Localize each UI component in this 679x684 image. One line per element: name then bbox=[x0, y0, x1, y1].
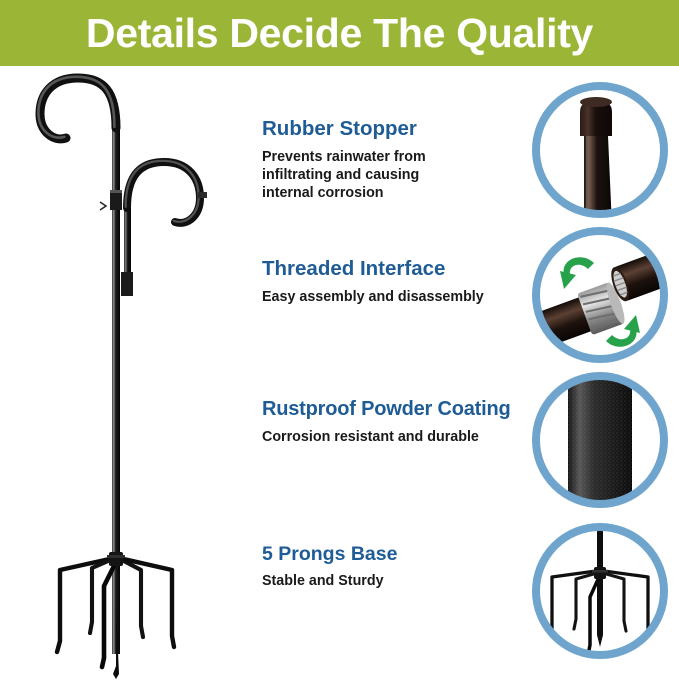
feature-title: Rubber Stopper bbox=[262, 117, 530, 141]
prongs-base-photo bbox=[524, 515, 676, 667]
feature-description: Prevents rainwater from infiltrating and… bbox=[262, 148, 462, 203]
feature-block-rubber-stopper: Rubber Stopper Prevents rainwater from i… bbox=[262, 117, 530, 202]
threaded-interface-photo bbox=[524, 219, 676, 371]
shepherd-hook-pole-illustration bbox=[0, 66, 250, 679]
feature-block-rustproof-powder-coating: Rustproof Powder Coating Corrosion resis… bbox=[262, 398, 530, 446]
feature-title: 5 Prongs Base bbox=[262, 543, 530, 565]
feature-block-threaded-interface: Threaded Interface Easy assembly and dis… bbox=[262, 257, 530, 306]
feature-title: Threaded Interface bbox=[262, 257, 530, 281]
powder-coating-photo bbox=[524, 364, 676, 516]
feature-description: Corrosion resistant and durable bbox=[262, 428, 530, 446]
feature-title: Rustproof Powder Coating bbox=[262, 398, 530, 421]
feature-block-5-prongs-base: 5 Prongs Base Stable and Sturdy bbox=[262, 543, 530, 591]
feature-description: Easy assembly and disassembly bbox=[262, 288, 530, 306]
page-title: Details Decide The Quality bbox=[86, 13, 593, 54]
header-banner: Details Decide The Quality bbox=[0, 0, 679, 66]
feature-description: Stable and Sturdy bbox=[262, 572, 530, 590]
product-hero-image bbox=[0, 66, 250, 679]
rubber-stopper-photo bbox=[524, 74, 676, 226]
